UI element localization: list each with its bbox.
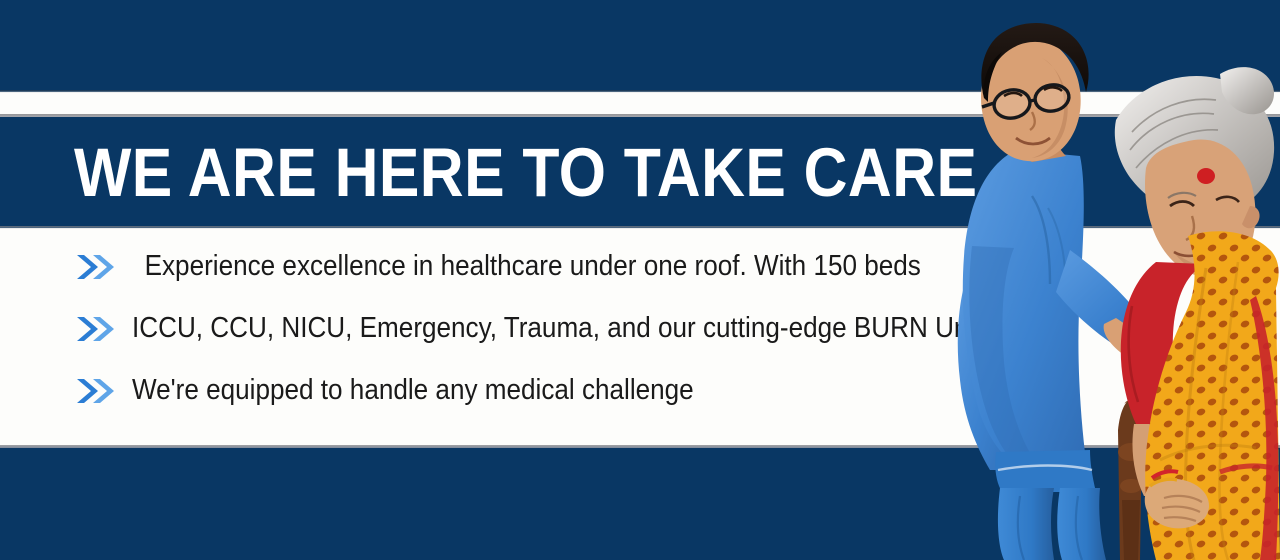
list-item: Experience excellence in healthcare unde… [74,236,914,298]
feature-bullet-list: Experience excellence in healthcare unde… [74,236,914,422]
page-title: WE ARE HERE TO TAKE CARE [74,138,977,207]
double-chevron-right-icon [74,252,118,282]
list-item: ICCU, CCU, NICU, Emergency, Trauma, and … [74,298,914,360]
list-item-label: We're equipped to handle any medical cha… [132,375,694,407]
double-chevron-right-icon [74,376,118,406]
list-item-label: Experience excellence in healthcare unde… [132,251,921,283]
nurse-and-patient-photo [920,0,1280,560]
double-chevron-right-icon [74,314,118,344]
list-item-label: ICCU, CCU, NICU, Emergency, Trauma, and … [132,313,989,345]
healthcare-promo-banner: WE ARE HERE TO TAKE CARE Experience exce… [0,0,1280,560]
list-item: We're equipped to handle any medical cha… [74,360,914,422]
